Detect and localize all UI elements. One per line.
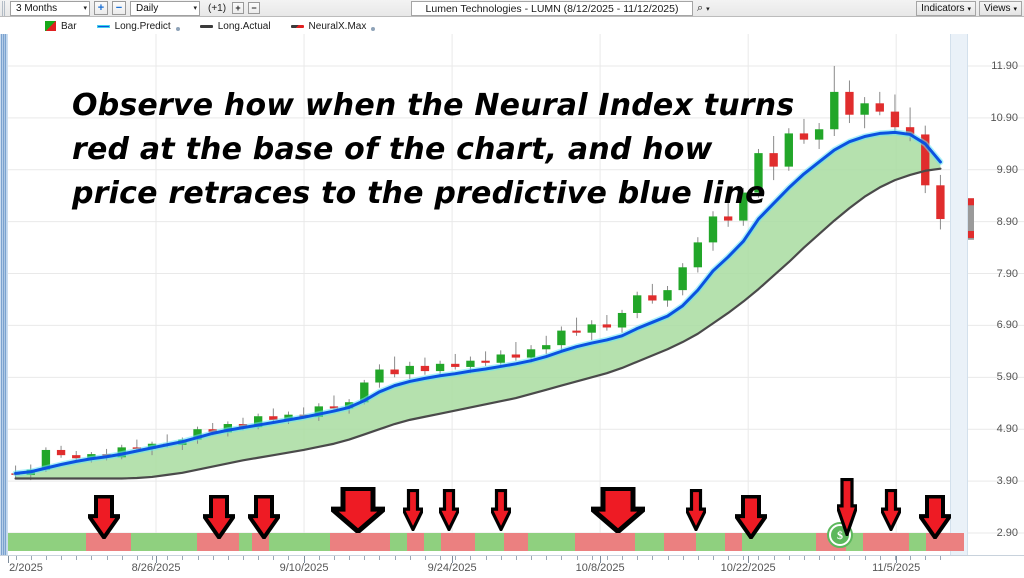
x-axis-tick	[561, 556, 562, 560]
dark-line-swatch-icon	[200, 25, 213, 28]
legend-item-long-actual[interactable]: Long.Actual	[200, 21, 271, 32]
neural-index-segment-red[interactable]	[504, 533, 528, 551]
down-arrow-icon	[491, 489, 511, 531]
chevron-down-icon: ▾	[193, 2, 197, 15]
x-axis-tick	[455, 556, 456, 560]
x-axis-tick	[167, 556, 168, 560]
views-button[interactable]: Views ▾	[979, 1, 1022, 16]
x-axis-tick-label: 10/22/2025	[721, 562, 776, 574]
x-axis-tick	[501, 556, 502, 560]
toolbar: 3 Months ▾ + − Daily ▾ (+1) + − Lumen Te…	[0, 0, 1024, 17]
chevron-down-icon: ▾	[1013, 5, 1017, 13]
y-axis-tick-label: 8.90	[997, 216, 1018, 228]
x-axis-tick-label: 9/24/2025	[428, 562, 477, 574]
x-axis-tick	[546, 556, 547, 560]
neural-index-segment-green[interactable]	[475, 533, 504, 551]
left-scroll-rail[interactable]	[0, 34, 8, 578]
x-axis-tick	[76, 556, 77, 560]
x-axis-tick	[910, 556, 911, 560]
x-axis-tick	[940, 556, 941, 560]
down-arrow-icon	[88, 495, 120, 539]
y-axis-tick-label: 2.90	[997, 527, 1018, 539]
x-axis-tick	[410, 556, 411, 560]
x-axis-tick	[637, 556, 638, 560]
x-axis-tick	[592, 556, 593, 560]
neural-index-segment-green[interactable]	[424, 533, 441, 551]
indicators-button-label: Indicators	[921, 3, 964, 14]
down-arrow-icon	[203, 495, 235, 539]
y-axis-tick-label: 6.90	[997, 319, 1018, 331]
x-axis-tick-label: 10/8/2025	[576, 562, 625, 574]
x-axis-tick	[258, 556, 259, 560]
x-axis-tick	[774, 556, 775, 560]
x-axis-tick	[804, 556, 805, 560]
x-axis-tick-label: 9/10/2025	[280, 562, 329, 574]
down-arrow-icon	[686, 489, 706, 531]
search-icon: ⌕	[697, 2, 703, 15]
x-axis-tick	[622, 556, 623, 560]
down-arrow-icon	[248, 495, 280, 539]
down-arrow-icon	[331, 487, 385, 533]
future-projection-zone	[950, 34, 968, 555]
neural-index-strip[interactable]	[8, 533, 964, 551]
x-axis-tick	[288, 556, 289, 560]
y-axis-tick-label: 5.90	[997, 371, 1018, 383]
x-axis-tick	[91, 556, 92, 560]
y-axis-tick-label: 9.90	[997, 164, 1018, 176]
neural-index-segment-green[interactable]	[635, 533, 664, 551]
interval-dropdown[interactable]: Daily ▾	[130, 1, 200, 16]
legend-settings-dot-icon[interactable]	[176, 27, 180, 31]
x-axis-tick	[758, 556, 759, 560]
x-axis-tick	[834, 556, 835, 560]
annotation-line-3: price retraces to the predictive blue li…	[72, 172, 772, 216]
symbol-title-field[interactable]: Lumen Technologies - LUMN (8/12/2025 - 1…	[411, 1, 693, 16]
chevron-down-icon: ▾	[967, 5, 971, 13]
x-axis-tick	[182, 556, 183, 560]
x-axis-tick	[486, 556, 487, 560]
x-axis-tick-label: 11/5/2025	[872, 562, 920, 574]
toolbar-drag-grip[interactable]	[2, 1, 6, 16]
neural-index-segment-red[interactable]	[441, 533, 475, 551]
legend-settings-dot-icon[interactable]	[371, 27, 375, 31]
x-axis-tick-label: 2/2025	[9, 562, 43, 574]
interval-decrease-button[interactable]: −	[248, 2, 260, 14]
x-axis-tick	[743, 556, 744, 560]
period-decrease-button[interactable]: −	[112, 1, 126, 15]
x-axis-tick	[819, 556, 820, 560]
x-axis-tick	[516, 556, 517, 560]
annotation-line-2: red at the base of the chart, and how	[72, 128, 772, 172]
x-axis-tick	[198, 556, 199, 560]
legend-item-long-predict[interactable]: Long.Predict	[97, 21, 180, 32]
x-axis-tick	[228, 556, 229, 560]
neural-index-segment-green[interactable]	[696, 533, 725, 551]
x-axis-tick	[925, 556, 926, 560]
interval-dropdown-value: Daily	[136, 2, 158, 15]
x-axis-tick	[698, 556, 699, 560]
period-dropdown[interactable]: 3 Months ▾	[10, 1, 90, 16]
chevron-down-icon: ▾	[706, 5, 710, 13]
symbol-search-control[interactable]: ⌕ ▾	[697, 2, 710, 15]
x-axis-tick	[61, 556, 62, 560]
x-axis-tick	[107, 556, 108, 560]
x-axis-tick	[728, 556, 729, 560]
chart-application-window: 3 Months ▾ + − Daily ▾ (+1) + − Lumen Te…	[0, 0, 1024, 578]
x-axis-tick	[440, 556, 441, 560]
interval-offset-label: (+1)	[208, 3, 226, 14]
x-axis-tick-label: 8/26/2025	[132, 562, 181, 574]
bar-candle-swatch-icon	[45, 21, 56, 31]
down-arrow-icon	[403, 489, 423, 531]
x-axis-tick	[152, 556, 153, 560]
annotation-line-1: Observe how when the Neural Index turns	[72, 84, 772, 128]
x-axis-tick	[683, 556, 684, 560]
legend-label: Long.Predict	[115, 21, 171, 32]
neural-index-segment-red[interactable]	[407, 533, 424, 551]
down-arrow-icon	[881, 489, 901, 531]
x-axis-tick	[379, 556, 380, 560]
period-dropdown-value: 3 Months	[16, 2, 57, 15]
legend-label: Bar	[61, 21, 77, 32]
x-axis-tick	[349, 556, 350, 560]
x-axis-tick	[713, 556, 714, 560]
x-axis-tick	[243, 556, 244, 560]
legend-item-bar[interactable]: Bar	[45, 21, 77, 32]
y-axis[interactable]: 2.903.904.905.906.907.908.909.9010.9011.…	[968, 34, 1024, 555]
x-axis-tick	[46, 556, 47, 560]
y-axis-tick-label: 7.90	[997, 268, 1018, 280]
indicators-button[interactable]: Indicators ▾	[916, 1, 976, 16]
annotation-text: Observe how when the Neural Index turns …	[72, 84, 772, 216]
neural-index-segment-red[interactable]	[664, 533, 696, 551]
y-axis-tick-label: 10.90	[990, 112, 1018, 124]
interval-increase-button[interactable]: +	[232, 2, 244, 14]
neural-index-segment-red[interactable]	[863, 533, 909, 551]
x-axis-tick	[607, 556, 608, 560]
x-axis-tick	[364, 556, 365, 560]
x-axis-tick	[531, 556, 532, 560]
x-axis-tick	[213, 556, 214, 560]
x-axis-tick	[652, 556, 653, 560]
down-arrow-icon	[919, 495, 951, 539]
x-axis-tick	[849, 556, 850, 560]
x-axis-tick	[865, 556, 866, 560]
down-arrow-icon	[735, 495, 767, 539]
period-increase-button[interactable]: +	[94, 1, 108, 15]
x-axis-tick	[273, 556, 274, 560]
chevron-down-icon: ▾	[83, 2, 87, 15]
x-axis-tick	[334, 556, 335, 560]
toolbar-right-group: Indicators ▾ Views ▾	[916, 1, 1022, 16]
x-axis-tick	[137, 556, 138, 560]
x-axis-tick	[470, 556, 471, 560]
views-button-label: Views	[984, 3, 1011, 14]
y-axis-tick-label: 11.90	[991, 60, 1018, 72]
blue-line-swatch-icon	[97, 25, 110, 28]
neural-index-segment-green[interactable]	[131, 533, 197, 551]
neural-index-segment-green[interactable]	[390, 533, 407, 551]
x-axis-tick	[395, 556, 396, 560]
x-axis[interactable]: 2/20258/26/20259/10/20259/24/202510/8/20…	[0, 555, 1024, 578]
legend-item-neuralx-max[interactable]: NeuralX.Max	[291, 21, 376, 32]
neural-index-segment-green[interactable]	[528, 533, 575, 551]
x-axis-tick	[880, 556, 881, 560]
legend-label: Long.Actual	[218, 21, 271, 32]
neural-index-segment-red[interactable]	[330, 533, 390, 551]
x-axis-tick	[577, 556, 578, 560]
x-axis-tick	[425, 556, 426, 560]
neural-index-segment-green[interactable]	[8, 533, 86, 551]
x-axis-tick	[668, 556, 669, 560]
y-axis-tick-label: 4.90	[997, 423, 1018, 435]
neural-index-segment-red[interactable]	[575, 533, 635, 551]
legend-label: NeuralX.Max	[309, 21, 367, 32]
y-axis-tick-label: 3.90	[997, 475, 1018, 487]
down-arrow-icon	[439, 489, 459, 531]
chart-legend: Bar Long.Predict Long.Actual NeuralX.Max	[0, 18, 1024, 34]
down-arrow-icon	[591, 487, 645, 533]
neuralx-swatch-icon	[291, 25, 304, 28]
x-axis-tick	[789, 556, 790, 560]
x-axis-tick	[319, 556, 320, 560]
down-arrow-icon	[837, 478, 857, 536]
x-axis-tick	[122, 556, 123, 560]
x-axis-tick	[16, 556, 17, 560]
x-axis-tick	[31, 556, 32, 560]
